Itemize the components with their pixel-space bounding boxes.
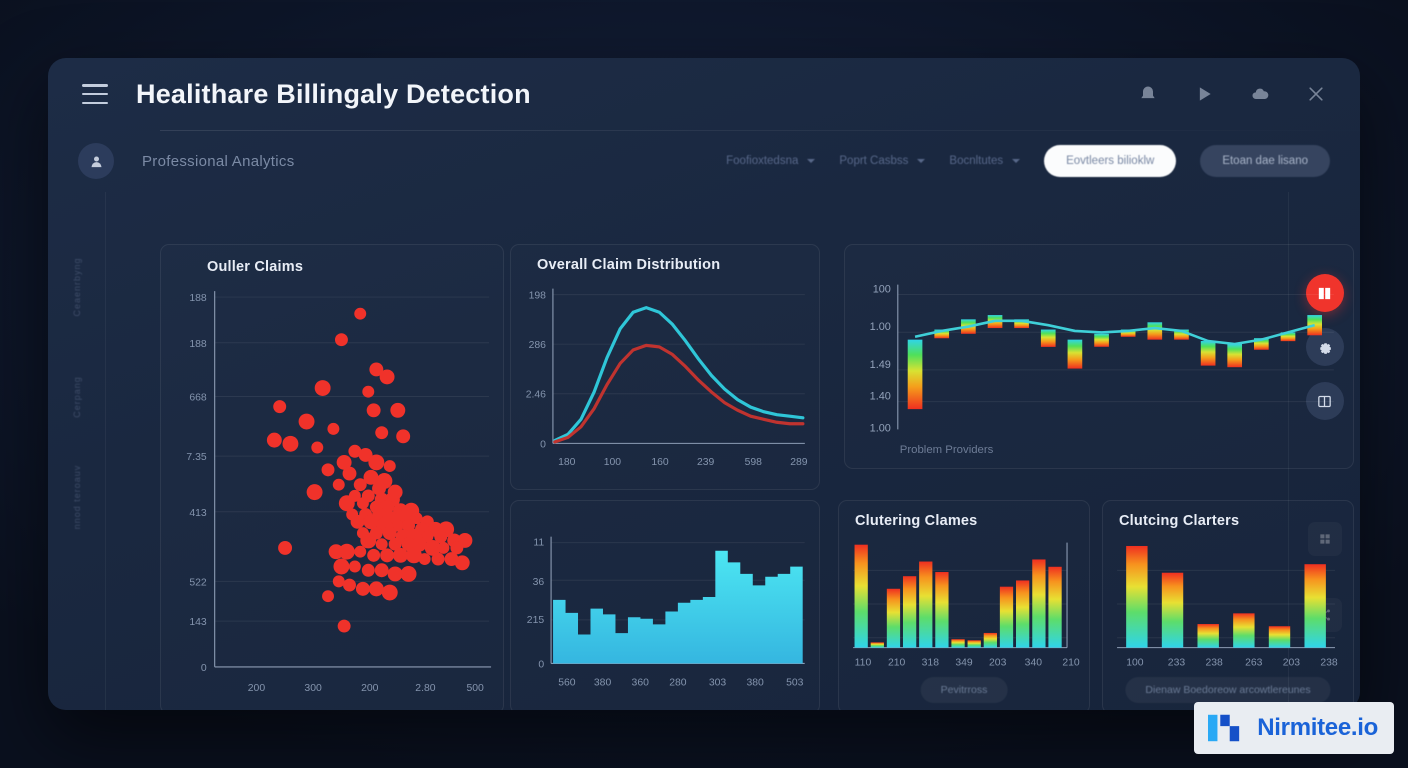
svg-text:500: 500: [466, 683, 484, 694]
svg-text:0: 0: [540, 439, 546, 450]
svg-text:7.35: 7.35: [186, 452, 206, 463]
cluster2-gridlines: [1117, 570, 1335, 637]
dist-x-ticks: 180 100 160 239 598 289: [558, 457, 808, 468]
svg-text:318: 318: [922, 657, 940, 668]
primary-action-button[interactable]: Eovtleers bilioklw: [1044, 145, 1176, 177]
svg-text:263: 263: [1245, 657, 1263, 668]
svg-text:289: 289: [790, 457, 808, 468]
scatter-title: Ouller Claims: [207, 259, 303, 275]
dist-gridlines: [553, 295, 805, 394]
panel-outlier-claims: Ouller Claims 188 188 668 7.35: [160, 244, 504, 710]
svg-text:380: 380: [746, 677, 764, 688]
hist-y-ticks: 11 36 215 0: [527, 538, 545, 671]
svg-text:210: 210: [1062, 657, 1080, 668]
combo-y-ticks: 100 1.00 1.49 1.40 1.00: [870, 284, 891, 435]
panel-claim-distribution: Overall Claim Distribution 198 286 2.46 …: [510, 244, 820, 490]
title-bar-icons: [1138, 84, 1326, 104]
svg-text:198: 198: [529, 291, 547, 302]
left-sidebar: Ceaenrbyng Cerpang nnod teroauv: [48, 192, 106, 710]
chevron-down-icon: [1012, 159, 1020, 163]
svg-text:349: 349: [955, 657, 973, 668]
svg-text:188: 188: [189, 339, 207, 350]
scatter-y-ticks: 188 188 668 7.35 413 522 143 0: [186, 293, 207, 674]
combo-caption: Problem Providers: [900, 444, 994, 456]
cluster2-bars: [1126, 546, 1326, 648]
scatter-gridlines: [215, 297, 489, 621]
combo-chart: 100 1.00 1.49 1.40 1.00 Problem Provider…: [845, 245, 1353, 468]
dropdown-1[interactable]: Foofioxtedsna: [726, 155, 815, 167]
secondary-action-button[interactable]: Etoan dae lisano: [1200, 145, 1330, 177]
svg-text:280: 280: [669, 677, 687, 688]
page-subtitle: Professional Analytics: [142, 153, 295, 170]
svg-text:0: 0: [538, 659, 544, 670]
cluster2-caption[interactable]: Dienaw Boedoreow arcowtlereunes: [1125, 677, 1330, 703]
play-icon[interactable]: [1194, 84, 1214, 104]
cluster1-caption[interactable]: Pevitrross: [921, 677, 1008, 703]
svg-text:100: 100: [604, 457, 622, 468]
combo-bars: [908, 315, 1322, 409]
cluster1-title: Clutering Clames: [855, 513, 977, 529]
svg-text:0: 0: [201, 663, 207, 674]
sub-header-controls: Foofioxtedsna Poprt Casbss Bocnltutes Eo…: [726, 145, 1330, 177]
sub-header: Professional Analytics Foofioxtedsna Pop…: [48, 130, 1360, 192]
cluster1-x-ticks: 110 210 318 349 203 340 210: [855, 657, 1080, 668]
panel-clustering-claims: Clutering Clames 110 210 318 349 203 340: [838, 500, 1090, 710]
close-icon[interactable]: [1306, 84, 1326, 104]
svg-text:203: 203: [1283, 657, 1301, 668]
svg-text:668: 668: [189, 392, 207, 403]
page-title: Healithare Billingaly Detection: [136, 79, 531, 110]
svg-text:380: 380: [594, 677, 612, 688]
avatar[interactable]: [78, 143, 114, 179]
hist-x-ticks: 560 380 360 280 303 380 503: [558, 677, 803, 688]
svg-text:11: 11: [533, 538, 544, 549]
chevron-down-icon: [807, 159, 815, 163]
scatter-x-ticks: 200 300 200 2.80 500: [248, 683, 484, 694]
dropdown-3[interactable]: Bocnltutes: [949, 155, 1020, 167]
svg-text:200: 200: [361, 683, 379, 694]
svg-text:522: 522: [189, 577, 207, 588]
svg-text:2.80: 2.80: [415, 683, 435, 694]
dropdown-3-label: Bocnltutes: [949, 155, 1003, 167]
svg-text:36: 36: [533, 577, 545, 588]
chevron-down-icon: [917, 159, 925, 163]
dashboard-grid: Ouller Claims 188 188 668 7.35: [148, 244, 1358, 710]
svg-text:286: 286: [529, 340, 547, 351]
svg-text:1.49: 1.49: [870, 359, 891, 371]
svg-text:303: 303: [709, 677, 727, 688]
svg-text:110: 110: [855, 657, 872, 668]
dropdown-2-label: Poprt Casbss: [839, 155, 908, 167]
svg-text:200: 200: [248, 683, 266, 694]
svg-text:210: 210: [888, 657, 906, 668]
svg-text:360: 360: [632, 677, 650, 688]
svg-text:238: 238: [1205, 657, 1223, 668]
cloud-icon[interactable]: [1250, 84, 1270, 104]
bell-icon[interactable]: [1138, 84, 1158, 104]
svg-text:1.00: 1.00: [870, 422, 891, 434]
svg-text:598: 598: [745, 457, 763, 468]
svg-text:2.46: 2.46: [526, 390, 546, 401]
svg-text:188: 188: [189, 293, 207, 304]
distribution-chart: 198 286 2.46 0 180 100 160 239 598 289: [511, 245, 819, 489]
dropdown-1-label: Foofioxtedsna: [726, 155, 798, 167]
nirmitee-logo-icon: [1206, 711, 1244, 745]
svg-text:300: 300: [304, 683, 322, 694]
sidebar-label-1: Ceaenrbyng: [72, 257, 82, 316]
scatter-chart: 188 188 668 7.35 413 522 143 0 200 300 2…: [161, 245, 503, 710]
svg-text:413: 413: [189, 508, 207, 519]
svg-text:100: 100: [873, 284, 891, 296]
svg-text:1.40: 1.40: [870, 391, 891, 403]
panel-clustering-clusters: Clutcing Clarters 100 233 238 263 203 23…: [1102, 500, 1354, 710]
svg-text:215: 215: [527, 615, 545, 626]
svg-text:503: 503: [786, 677, 804, 688]
scatter-points: [267, 308, 472, 633]
svg-text:239: 239: [697, 457, 715, 468]
app-window: Healithare Billingaly Detection Professi…: [48, 58, 1360, 710]
svg-text:160: 160: [651, 457, 669, 468]
svg-text:143: 143: [189, 617, 207, 628]
cluster2-title: Clutcing Clarters: [1119, 513, 1239, 529]
svg-text:560: 560: [558, 677, 576, 688]
histogram-bars: [553, 551, 803, 664]
svg-text:340: 340: [1025, 657, 1043, 668]
dist-y-ticks: 198 286 2.46 0: [526, 291, 546, 451]
svg-text:238: 238: [1320, 657, 1338, 668]
hamburger-icon[interactable]: [82, 84, 108, 104]
histogram-chart: 11 36 215 0 560 380 360 280 303 380 503: [511, 501, 819, 710]
svg-text:233: 233: [1168, 657, 1186, 668]
title-bar: Healithare Billingaly Detection: [48, 58, 1360, 130]
dropdown-2[interactable]: Poprt Casbss: [839, 155, 925, 167]
svg-text:1.00: 1.00: [870, 321, 891, 333]
svg-text:180: 180: [558, 457, 576, 468]
sidebar-label-3: nnod teroauv: [72, 465, 82, 530]
panel-problem-providers: 100 1.00 1.49 1.40 1.00 Problem Provider…: [844, 244, 1354, 469]
panel-histogram: 11 36 215 0 560 380 360 280 303 380 503: [510, 500, 820, 710]
cluster1-bars: [855, 545, 1062, 648]
watermark: Nirmitee.io: [1194, 702, 1394, 754]
sidebar-label-2: Cerpang: [72, 376, 82, 418]
svg-text:203: 203: [989, 657, 1007, 668]
svg-text:100: 100: [1126, 657, 1144, 668]
distribution-title: Overall Claim Distribution: [537, 257, 720, 273]
watermark-text: Nirmitee.io: [1257, 714, 1378, 742]
cluster2-x-ticks: 100 233 238 263 203 238: [1126, 657, 1338, 668]
